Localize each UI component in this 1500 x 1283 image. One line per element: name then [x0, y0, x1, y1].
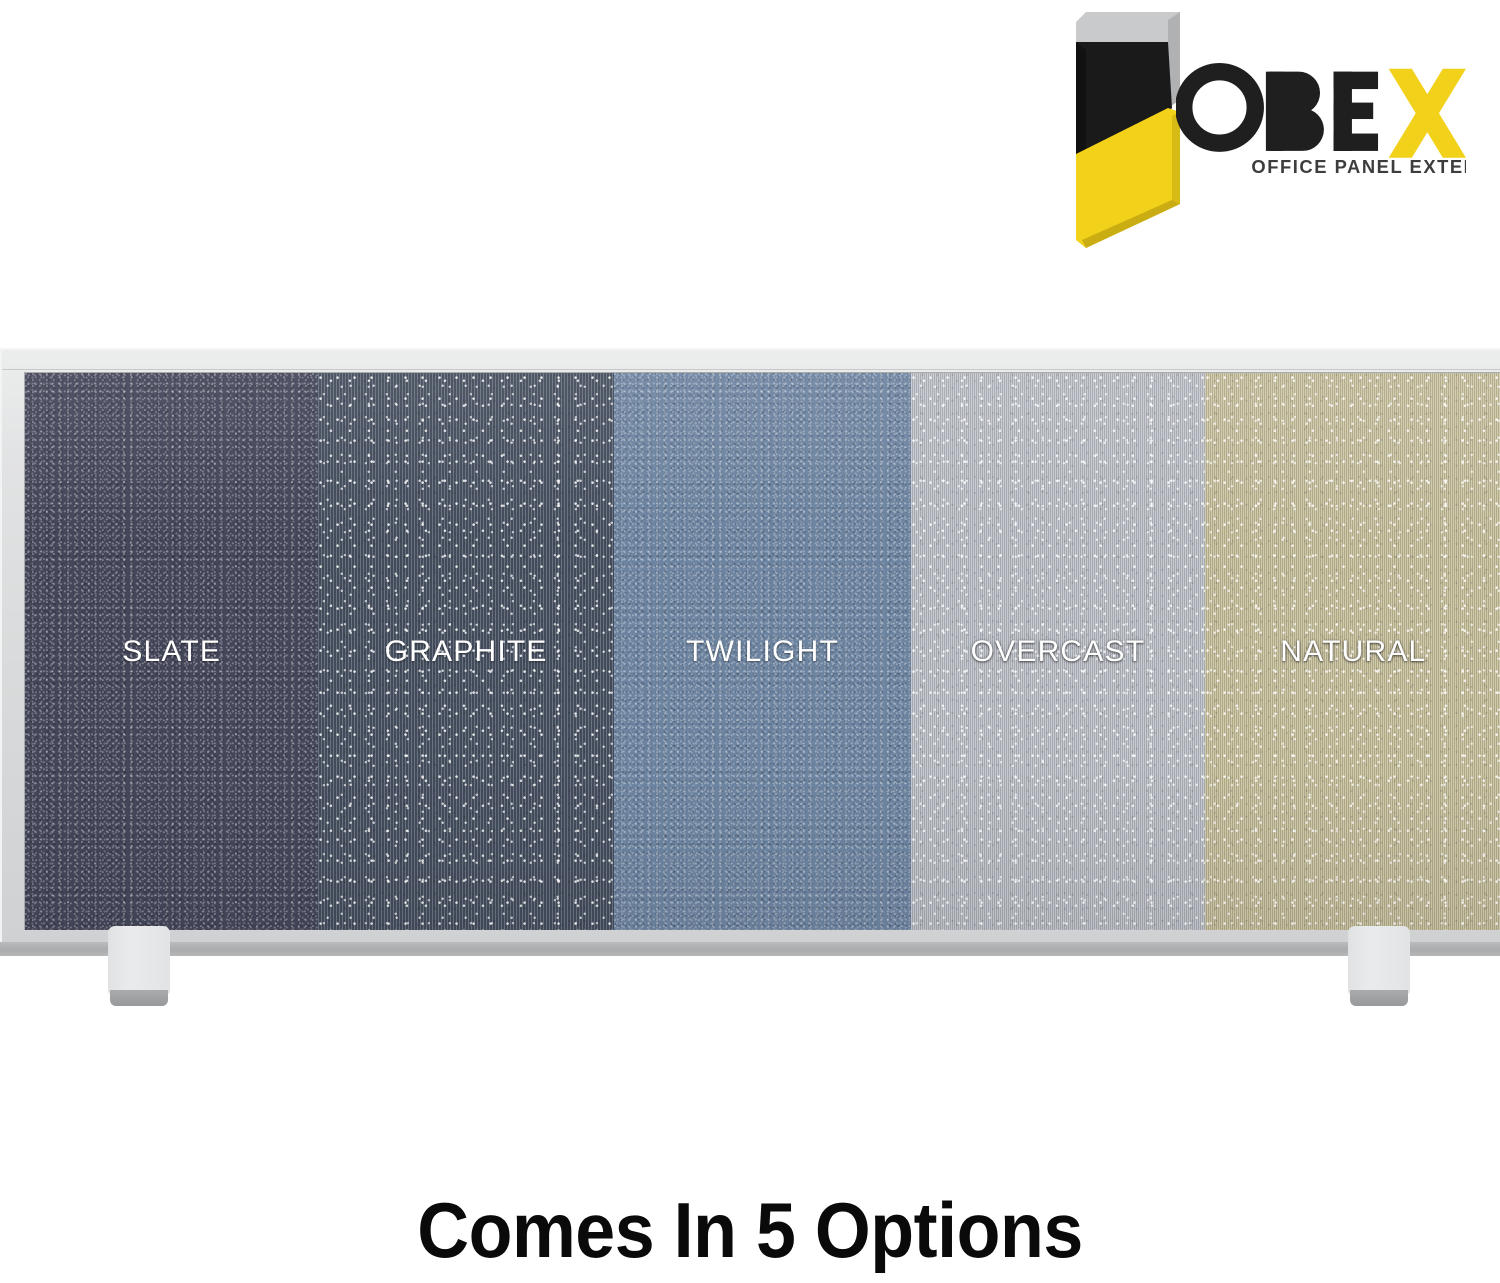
caption-text: Comes In 5 Options — [60, 1186, 1440, 1274]
panel-extender-assembly: SLATE GRAPHITE TWILIGHT — [0, 348, 1500, 1018]
fabric-swatch-strip: SLATE GRAPHITE TWILIGHT — [24, 372, 1500, 930]
obex-wordmark: OFFICE PANEL EXTENDERS — [1176, 60, 1466, 180]
swatch-label-slate: SLATE — [122, 635, 221, 669]
mounting-bracket-left-foot — [110, 990, 168, 1006]
mounting-bracket-left — [108, 926, 170, 1008]
product-image: OFFICE PANEL EXTENDERS SLATE — [0, 0, 1500, 1283]
swatch-label-overcast: OVERCAST — [971, 635, 1146, 669]
swatch-slate[interactable]: SLATE — [25, 373, 318, 930]
mounting-bracket-left-body — [108, 926, 170, 994]
mounting-bracket-right-foot — [1350, 990, 1408, 1006]
panel-aluminum-frame: SLATE GRAPHITE TWILIGHT — [0, 348, 1500, 942]
swatch-overcast[interactable]: OVERCAST — [911, 373, 1204, 930]
panel-bottom-rail — [0, 942, 1500, 956]
swatch-label-graphite: GRAPHITE — [385, 635, 548, 669]
brand-logo: OFFICE PANEL EXTENDERS — [1068, 8, 1468, 198]
swatch-twilight[interactable]: TWILIGHT — [614, 373, 911, 930]
swatch-natural[interactable]: NATURAL — [1205, 373, 1500, 930]
mounting-bracket-right-body — [1348, 926, 1410, 994]
swatch-label-twilight: TWILIGHT — [686, 635, 839, 669]
swatch-label-natural: NATURAL — [1280, 635, 1426, 669]
obex-chevron-logo-icon — [1068, 8, 1188, 258]
mounting-bracket-right — [1348, 926, 1410, 1008]
swatch-graphite[interactable]: GRAPHITE — [318, 373, 613, 930]
brand-tagline-text: OFFICE PANEL EXTENDERS — [1251, 156, 1466, 177]
frame-bevel — [2, 369, 1500, 370]
